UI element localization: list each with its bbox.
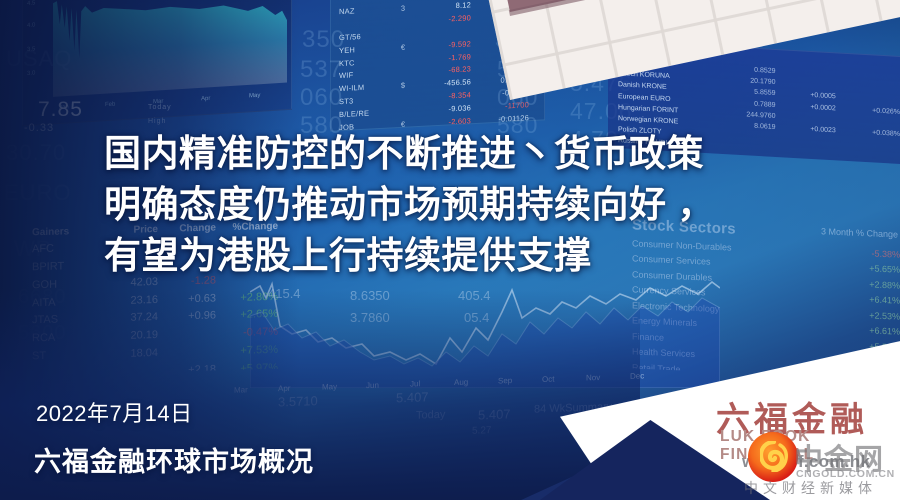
ghost-number: 350 <box>302 26 345 54</box>
ticker-flag <box>391 75 415 76</box>
ticker-flag: $ <box>391 80 415 94</box>
watermark-swirl-icon <box>760 441 788 472</box>
poster-canvas: 4.5 4.0 3.5 3.0 Jan Feb Mar Apr May 7.85… <box>0 0 900 500</box>
ticker-flag: € <box>391 41 415 55</box>
ghost-number: 060 <box>300 84 343 112</box>
currency-pct <box>836 148 900 163</box>
ghost-number: 537 <box>300 56 343 84</box>
caption-date: 2022年7月14日 <box>36 396 193 428</box>
ticker-flag <box>391 36 415 37</box>
watermark-tagline: 中文财经新媒体 <box>744 478 877 498</box>
sector-value: +6.41% <box>869 293 900 310</box>
ticker-flag <box>391 113 415 114</box>
sector-value: -5.38% <box>871 246 900 263</box>
headline-text: 国内精准防控的不断推进丶货币政策 明确态度仍推动市场预期持续向好 ， 有望为港股… <box>104 128 844 281</box>
ticker-flag <box>391 23 415 24</box>
caption-title: 六福金融环球市场概况 <box>34 440 314 479</box>
ticker-flag <box>391 100 415 101</box>
ticker-flag: 3 <box>391 2 415 16</box>
ticker-flag <box>391 62 415 63</box>
ticker-symbol <box>339 24 391 27</box>
sector-value: +5.65% <box>869 262 900 279</box>
sector-value: +2.88% <box>869 277 900 294</box>
ticker-symbol: NAZ <box>339 3 391 19</box>
ticker-change <box>415 33 471 36</box>
sector-value: +2.53% <box>869 308 900 325</box>
sector-value: +6.61% <box>869 324 900 341</box>
